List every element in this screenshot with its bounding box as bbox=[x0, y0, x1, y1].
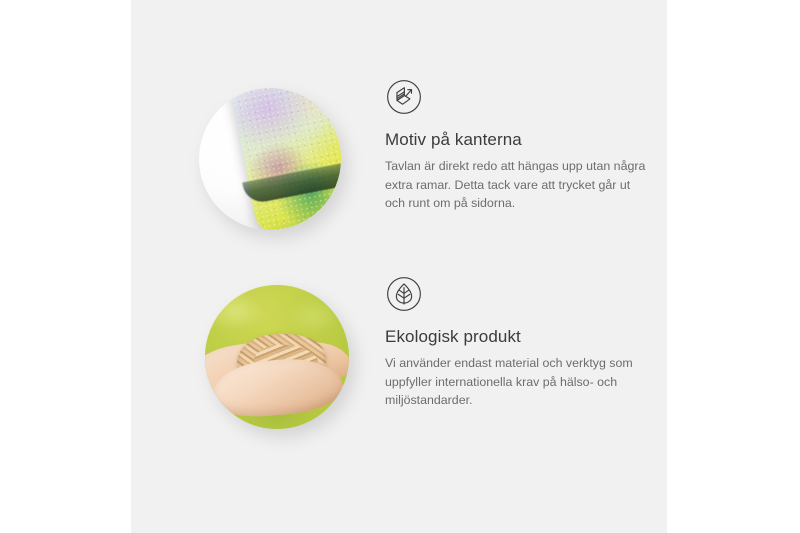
feature-title: Motiv på kanterna bbox=[385, 130, 657, 150]
feature-description: Tavlan är direkt redo att hängas upp uta… bbox=[385, 157, 651, 212]
feature-text-column: Motiv på kanterna Tavlan är direkt redo … bbox=[385, 78, 657, 212]
canvas-corner-photo bbox=[199, 88, 341, 230]
canvas-wrapped-edge-icon bbox=[385, 78, 423, 116]
feature-description: Vi använder endast material och verktyg … bbox=[385, 354, 651, 409]
leaf-icon bbox=[385, 275, 423, 313]
feature-text-column: Ekologisk produkt Vi använder endast mat… bbox=[385, 275, 657, 409]
content-panel: Motiv på kanterna Tavlan är direkt redo … bbox=[131, 0, 667, 533]
wood-chips-in-hands-photo bbox=[205, 285, 349, 429]
product-feature-panel: Motiv på kanterna Tavlan är direkt redo … bbox=[0, 0, 800, 533]
feature-title: Ekologisk produkt bbox=[385, 327, 657, 347]
